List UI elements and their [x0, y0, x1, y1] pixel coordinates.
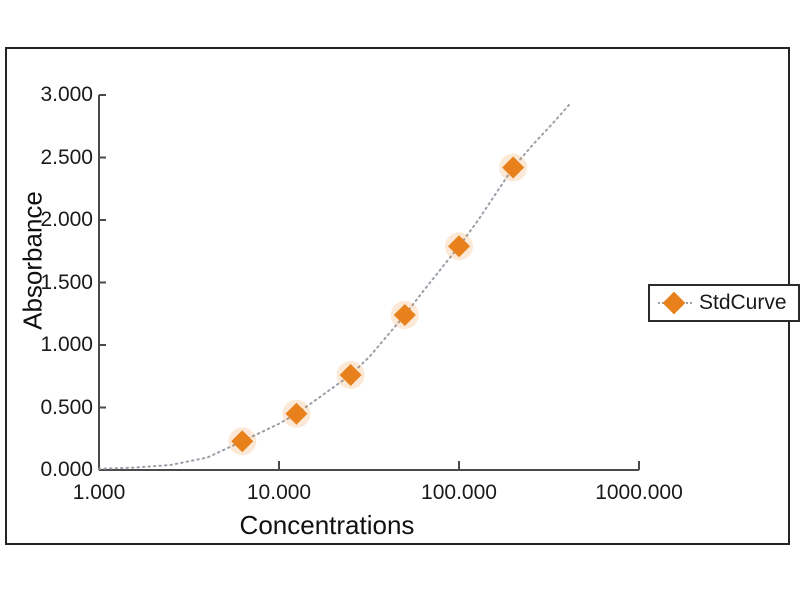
- x-tick-label: 10.000: [247, 482, 311, 503]
- x-tick-label: 1.000: [73, 482, 126, 503]
- y-axis-title: Absorbance: [18, 101, 49, 421]
- legend-item-label: StdCurve: [699, 291, 787, 315]
- chart-legend[interactable]: StdCurve: [648, 284, 800, 322]
- chart-frame: 0.0000.5001.0001.5002.0002.5003.000 1.00…: [5, 47, 790, 545]
- x-axis-title: Concentrations: [7, 510, 647, 541]
- x-tick-label: 100.000: [421, 482, 497, 503]
- legend-item-stdcurve[interactable]: StdCurve: [658, 291, 787, 315]
- x-tick-label: 1000.000: [595, 482, 683, 503]
- legend-marker-icon: [658, 293, 692, 313]
- plot-area: 0.0000.5001.0001.5002.0002.5003.000 1.00…: [7, 49, 792, 547]
